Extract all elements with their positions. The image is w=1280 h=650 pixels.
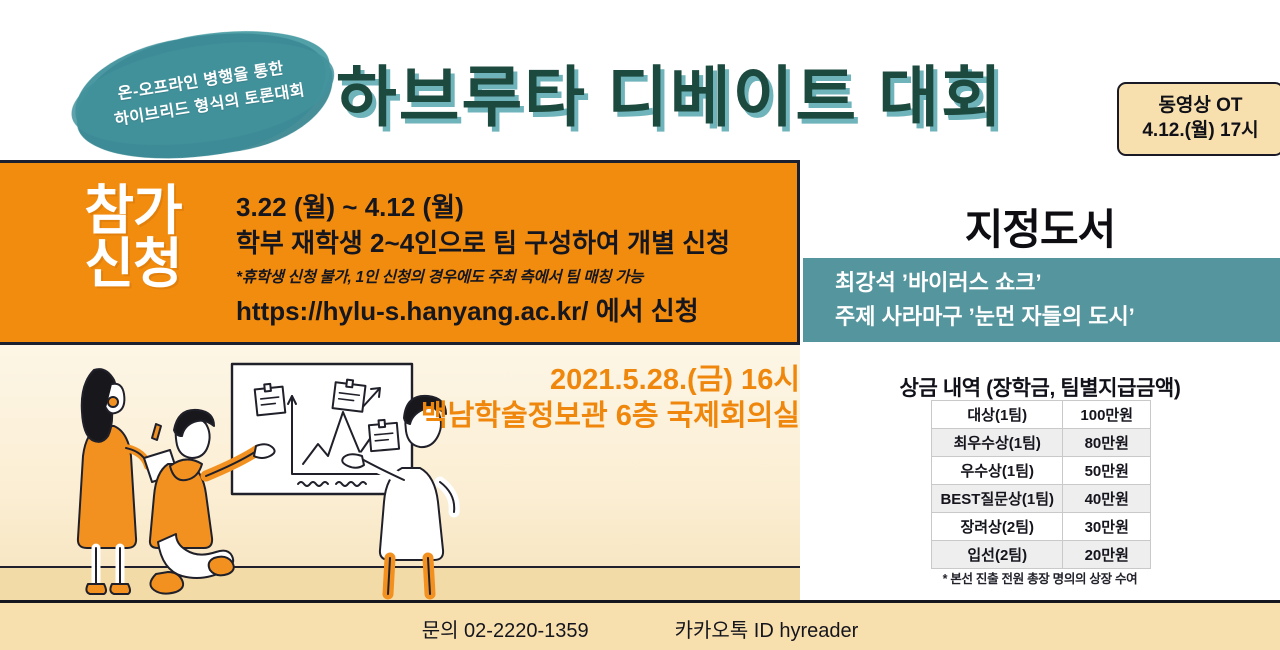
apply-team-rule: 학부 재학생 2~4인으로 팀 구성하여 개별 신청	[236, 225, 781, 263]
apply-period: 3.22 (월) ~ 4.12 (월)	[236, 189, 781, 225]
table-row: 최우수상(1팀)80만원	[932, 429, 1151, 457]
apply-note: *휴학생 신청 불가, 1인 신청의 경우에도 주최 측에서 팀 매칭 가능	[236, 263, 781, 292]
prize-name-cell: 입선(2팀)	[932, 541, 1063, 569]
book-line-2: 주제 사라마구 ’눈먼 자들의 도시’	[803, 300, 1280, 334]
brush-badge: 온-오프라인 병행을 통한 하이브리드 형식의 토론대회	[70, 17, 335, 173]
prize-note: * 본선 진출 전원 총장 명의의 상장 수여	[800, 568, 1280, 587]
event-datetime-block: 2021.5.28.(금) 16시 백남학술정보관 6층 국제회의실	[400, 362, 800, 435]
prize-name-cell: 장려상(2팀)	[932, 513, 1063, 541]
prize-name-cell: 우수상(1팀)	[932, 457, 1063, 485]
ot-badge-line1: 동영상 OT	[1158, 94, 1242, 119]
prize-name-cell: BEST질문상(1팀)	[932, 485, 1063, 513]
book-line-1: 최강석 ’바이러스 쇼크’	[803, 266, 1280, 300]
poster-footer: 문의 02-2220-1359 카카오톡 ID hyreader	[0, 600, 1280, 650]
contact-kakao: 카카오톡 ID hyreader	[675, 614, 859, 643]
apply-url[interactable]: https://hylu-s.hanyang.ac.kr/ 에서 신청	[236, 293, 781, 331]
brush-badge-text: 온-오프라인 병행을 통한 하이브리드 형식의 토론대회	[70, 17, 335, 173]
table-row: BEST질문상(1팀)40만원	[932, 485, 1151, 513]
prize-amount-cell: 80만원	[1063, 429, 1151, 457]
prize-amount-cell: 20만원	[1063, 541, 1151, 569]
prize-table: 대상(1팀)100만원최우수상(1팀)80만원우수상(1팀)50만원BEST질문…	[931, 400, 1151, 569]
event-datetime: 2021.5.28.(금) 16시	[400, 362, 800, 398]
apply-label: 참가 신청	[58, 185, 208, 291]
event-poster: 온-오프라인 병행을 통한 하이브리드 형식의 토론대회 하브루타 디베이트 대…	[0, 0, 1280, 650]
table-row: 대상(1팀)100만원	[932, 401, 1151, 429]
prize-table-title: 상금 내역 (장학금, 팀별지급금액)	[800, 372, 1280, 402]
table-row: 장려상(2팀)30만원	[932, 513, 1151, 541]
ot-badge: 동영상 OT 4.12.(월) 17시	[1117, 82, 1280, 156]
prize-name-cell: 최우수상(1팀)	[932, 429, 1063, 457]
apply-label-line2: 신청	[58, 238, 208, 291]
contact-phone: 문의 02-2220-1359	[422, 614, 589, 643]
prize-amount-cell: 50만원	[1063, 457, 1151, 485]
apply-section: 참가 신청 3.22 (월) ~ 4.12 (월) 학부 재학생 2~4인으로 …	[0, 160, 800, 345]
prize-name-cell: 대상(1팀)	[932, 401, 1063, 429]
page-title: 하브루타 디베이트 대회	[336, 44, 1004, 140]
books-box: 최강석 ’바이러스 쇼크’ 주제 사라마구 ’눈먼 자들의 도시’	[803, 258, 1280, 342]
event-venue: 백남학술정보관 6층 국제회의실	[400, 398, 800, 434]
books-heading: 지정도서	[800, 196, 1280, 257]
prize-amount-cell: 40만원	[1063, 485, 1151, 513]
apply-details: 3.22 (월) ~ 4.12 (월) 학부 재학생 2~4인으로 팀 구성하여…	[236, 189, 781, 330]
prize-amount-cell: 100만원	[1063, 401, 1151, 429]
table-row: 입선(2팀)20만원	[932, 541, 1151, 569]
poster-header: 온-오프라인 병행을 통한 하이브리드 형식의 토론대회 하브루타 디베이트 대…	[0, 0, 1280, 160]
prize-amount-cell: 30만원	[1063, 513, 1151, 541]
prize-table-body: 대상(1팀)100만원최우수상(1팀)80만원우수상(1팀)50만원BEST질문…	[932, 401, 1151, 569]
table-row: 우수상(1팀)50만원	[932, 457, 1151, 485]
ot-badge-line2: 4.12.(월) 17시	[1142, 119, 1258, 144]
apply-label-line1: 참가	[58, 185, 208, 238]
